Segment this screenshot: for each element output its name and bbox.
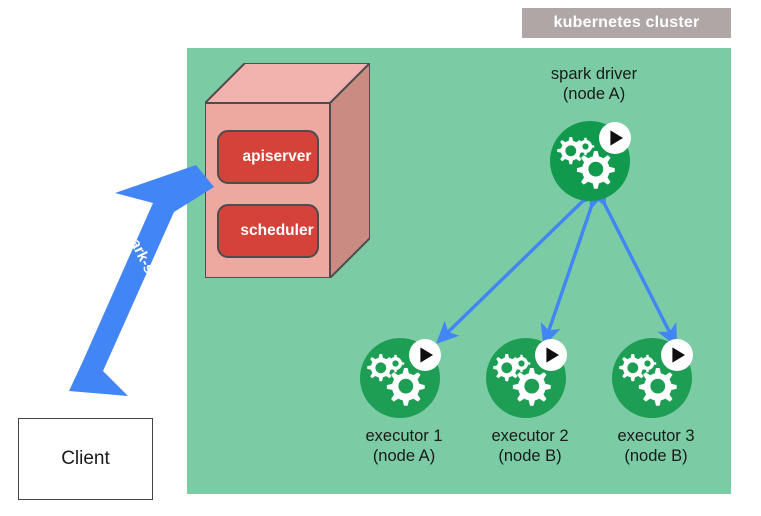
medium-gear-icon (619, 354, 646, 381)
executor-1-node-icon (358, 328, 450, 420)
kubernetes-cluster-label: kubernetes cluster (522, 8, 731, 38)
control-plane-cube: apiserver scheduler (205, 63, 370, 278)
executor-3-caption: executor 3 (node B) (596, 426, 716, 466)
client-box: Client (18, 418, 153, 500)
diagram-canvas: kubernetes cluster (0, 0, 761, 516)
large-gear-icon (513, 368, 551, 406)
medium-gear-icon (367, 354, 394, 381)
apiserver-chip (218, 131, 318, 183)
large-gear-icon (639, 368, 677, 406)
spark-driver-node-icon (548, 111, 640, 203)
play-badge-icon (409, 339, 441, 371)
play-badge-icon (599, 122, 631, 154)
medium-gear-icon (493, 354, 520, 381)
large-gear-icon (577, 151, 615, 189)
spark-driver-caption: spark driver (node A) (524, 64, 664, 104)
executor-1-caption: executor 1 (node A) (344, 426, 464, 466)
play-badge-icon (535, 339, 567, 371)
executor-3-node-icon (610, 328, 702, 420)
play-badge-icon (661, 339, 693, 371)
large-gear-icon (387, 368, 425, 406)
spark-submit-arrow (55, 165, 220, 405)
medium-gear-icon (557, 137, 584, 164)
executor-2-caption: executor 2 (node B) (470, 426, 590, 466)
executor-2-node-icon (484, 328, 576, 420)
scheduler-chip (218, 205, 318, 257)
